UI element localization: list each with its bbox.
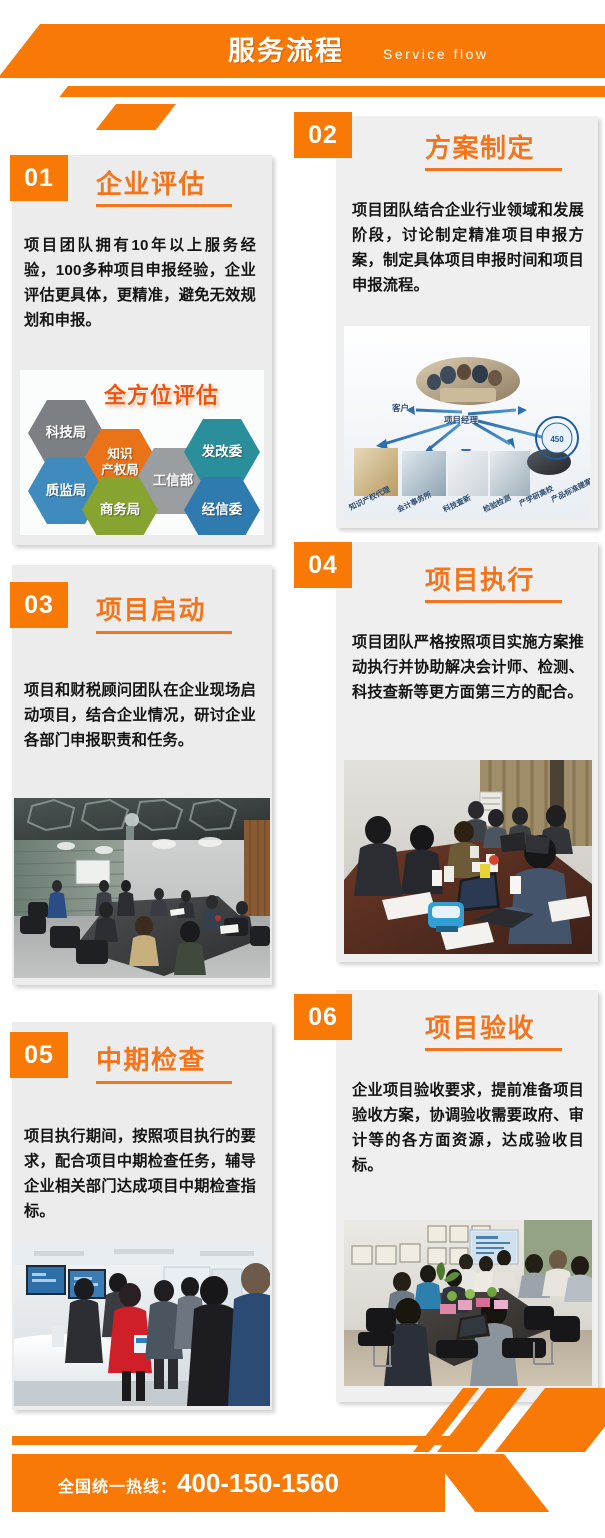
one-stop-label-customer: 客户	[392, 402, 409, 414]
step-badge-05: 05	[10, 1032, 68, 1078]
step-body-04: 项目团队严格按照项目实施方案推动执行并协助解决会计师、检测、科技查新等更方面第三…	[352, 630, 584, 705]
one-stop-service-diagram: 一站式服务	[344, 326, 590, 520]
iso-seal-text: 450	[550, 435, 564, 444]
page-subtitle: Service flow	[383, 44, 488, 64]
footer-chevron	[430, 1454, 549, 1512]
one-stop-node-photo-3	[448, 451, 488, 496]
step-photo-05	[14, 1243, 270, 1406]
step-title-rule-05	[96, 1081, 232, 1084]
working-meeting-photo-04	[344, 760, 592, 954]
step-title-rule-01	[96, 204, 232, 207]
step-title-02: 方案制定	[425, 128, 535, 165]
step-photo-06	[344, 1220, 592, 1386]
step-body-05: 项目执行期间，按照项目执行的要求，配合项目中期检查任务，辅导企业相关部门达成项目…	[24, 1124, 256, 1224]
step-badge-04: 04	[294, 542, 352, 588]
step-title-rule-03	[96, 631, 232, 634]
hotline-number: 400-150-1560	[177, 1468, 339, 1498]
step-body-03: 项目和财税顾问团队在企业现场启动项目，结合企业情况，研讨企业各部门申报职责和任务…	[24, 678, 256, 753]
hotline-label: 全国统一热线：	[58, 1479, 177, 1496]
one-stop-label-project-manager: 项目经理	[444, 414, 478, 426]
step-badge-02: 02	[294, 112, 352, 158]
step-title-rule-02	[425, 168, 562, 171]
step-title-03: 项目启动	[96, 590, 206, 627]
step-body-01: 项目团队拥有10年以上服务经验，100多种项目申报经验，企业评估更具体，更精准，…	[24, 233, 256, 333]
hex-chart-title: 全方位评估	[104, 378, 219, 410]
footer-thin-bar	[12, 1436, 432, 1445]
header-bar	[130, 24, 605, 78]
conference-room-photo-03	[14, 798, 270, 978]
header-accent-stripe	[96, 104, 176, 130]
step-badge-03: 03	[10, 582, 68, 628]
one-stop-top-photo	[416, 357, 520, 405]
red-item	[489, 855, 499, 865]
one-stop-node-photo-2	[402, 451, 446, 496]
step-badge-06: 06	[294, 994, 352, 1040]
one-stop-node-photo-4	[490, 451, 530, 496]
step-body-06: 企业项目验收要求，提前准备项目验收方案，协调验收需要政府、审计等的各方面资源，达…	[352, 1078, 584, 1178]
step-body-02: 项目团队结合企业行业领域和发展阶段，讨论制定精准项目申报方案，制定具体项目申报时…	[352, 198, 584, 298]
yellow-item	[480, 864, 490, 878]
one-stop-node-photo-5	[527, 449, 571, 475]
page-header: 服务流程 Service flow	[0, 0, 605, 130]
page-title: 服务流程	[228, 32, 344, 70]
step-title-rule-04	[425, 600, 562, 603]
step-photo-03	[14, 798, 270, 978]
all-round-evaluation-chart: 全方位评估 科技局 知识产权局 质监局 工信部 商务局 发改委 经信委	[20, 370, 264, 535]
footer-hotline: 全国统一热线：400-150-1560	[58, 1466, 339, 1505]
infographic-page: 服务流程 Service flow 01 企业评估 项目团队拥有10年以上服务经…	[0, 0, 605, 1538]
step-title-04: 项目执行	[425, 560, 535, 597]
header-thin-bar	[152, 86, 605, 97]
footer-thin-chevron	[418, 1436, 471, 1445]
step-title-01: 企业评估	[96, 164, 206, 201]
showroom-tour-photo-05	[14, 1243, 270, 1406]
review-meeting-photo-06	[344, 1220, 592, 1386]
step-title-06: 项目验收	[425, 1008, 535, 1045]
step-title-05: 中期检查	[96, 1040, 206, 1077]
step-badge-01: 01	[10, 155, 68, 201]
counter-device	[52, 1325, 64, 1347]
blue-bag	[428, 902, 464, 932]
step-photo-04	[344, 760, 592, 954]
page-footer: 全国统一热线：400-150-1560	[0, 1408, 605, 1538]
step-title-rule-06	[425, 1048, 562, 1051]
